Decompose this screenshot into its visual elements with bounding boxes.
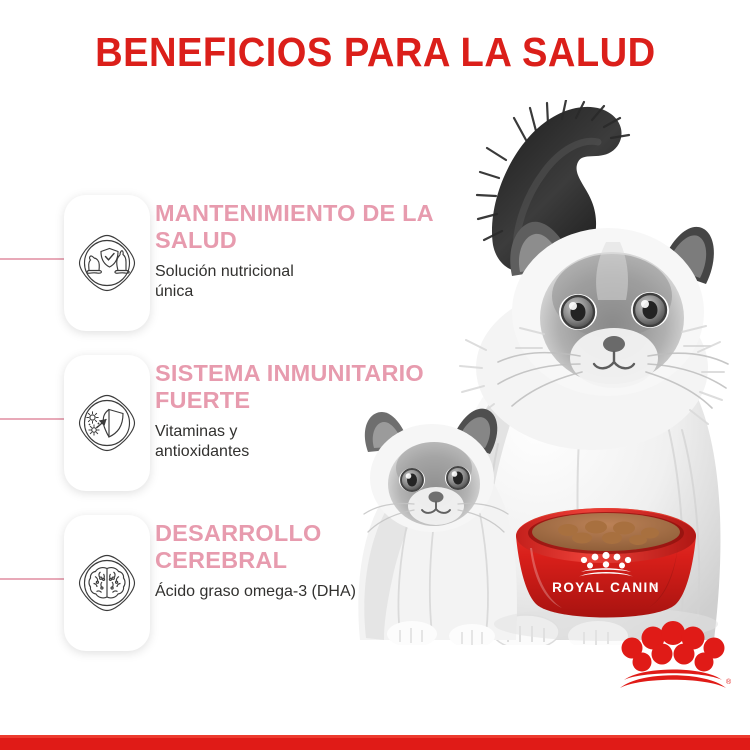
benefit-subtitle: Vitaminas y antioxidantes [155,422,455,463]
icon-card [64,195,150,331]
benefit-subtitle: Ácido graso omega-3 (DHA) [155,582,455,602]
royal-canin-crown-logo: ® [614,614,732,692]
footer-red-bar [0,735,750,750]
benefit-title: SISTEMA INMUNITARIO FUERTE [155,360,455,415]
benefit-title: DESARROLLO CEREBRAL [155,520,455,575]
footer-bar-highlight [0,735,750,738]
svg-text:®: ® [726,678,732,686]
icon-card [64,515,150,651]
page-header: BENEFICIOS PARA LA SALUD [0,0,750,105]
benefit-title: MANTENIMIENTO DE LA SALUD [155,200,455,255]
benefit-text: DESARROLLO CEREBRAL Ácido graso omega-3 … [155,520,455,602]
benefit-item-health-maintenance: MANTENIMIENTO DE LA SALUD Solución nutri… [0,195,470,355]
benefit-text: MANTENIMIENTO DE LA SALUD Solución nutri… [155,200,455,303]
benefits-list: MANTENIMIENTO DE LA SALUD Solución nutri… [0,195,470,675]
svg-text:®: ® [653,583,657,590]
icon-card [64,355,150,491]
page-title: BENEFICIOS PARA LA SALUD [95,29,656,76]
svg-text:ROYAL CANIN: ROYAL CANIN [552,580,660,595]
benefit-subtitle: Solución nutricional única [155,262,455,303]
benefit-item-immune-system: SISTEMA INMUNITARIO FUERTE Vitaminas y a… [0,355,470,515]
benefit-item-brain-development: DESARROLLO CEREBRAL Ácido graso omega-3 … [0,515,470,675]
benefit-text: SISTEMA INMUNITARIO FUERTE Vitaminas y a… [155,360,455,463]
